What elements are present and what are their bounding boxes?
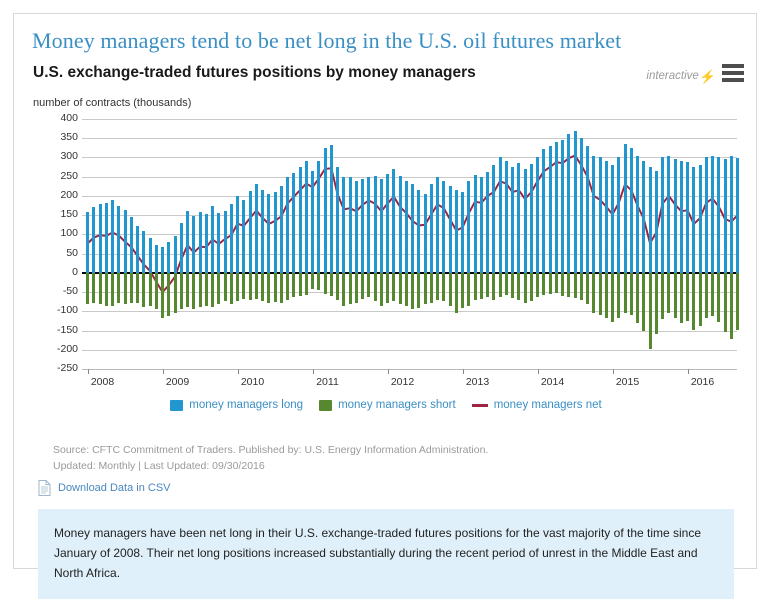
y-axis-tick-label: -200 bbox=[34, 343, 78, 355]
bar-long[interactable] bbox=[299, 167, 302, 273]
legend-item[interactable]: money managers long bbox=[170, 399, 303, 411]
bar-long[interactable] bbox=[611, 165, 614, 273]
bar-long[interactable] bbox=[411, 184, 414, 272]
bar-long[interactable] bbox=[274, 192, 277, 273]
interactive-badge: interactive ⚡ bbox=[646, 64, 744, 88]
lightning-bolt-icon: ⚡ bbox=[700, 70, 716, 83]
bar-long[interactable] bbox=[492, 165, 495, 273]
x-axis-tick-mark bbox=[463, 369, 464, 374]
bar-short[interactable] bbox=[517, 273, 520, 300]
bar-short[interactable] bbox=[124, 273, 127, 305]
bar-short[interactable] bbox=[499, 273, 502, 297]
chart-title: U.S. exchange-traded futures positions b… bbox=[33, 64, 476, 82]
bar-long[interactable] bbox=[549, 146, 552, 273]
bar-long[interactable] bbox=[592, 156, 595, 273]
bar-short[interactable] bbox=[86, 273, 89, 305]
bar-short[interactable] bbox=[417, 273, 420, 308]
bar-long[interactable] bbox=[561, 140, 564, 273]
bar-short[interactable] bbox=[255, 273, 258, 299]
bar-long[interactable] bbox=[292, 173, 295, 273]
bar-long[interactable] bbox=[442, 181, 445, 273]
bar-short[interactable] bbox=[661, 273, 664, 319]
bar-long[interactable] bbox=[355, 181, 358, 273]
bar-long[interactable] bbox=[655, 171, 658, 273]
bar-long[interactable] bbox=[174, 236, 177, 273]
bar-short[interactable] bbox=[505, 273, 508, 295]
bar-short[interactable] bbox=[392, 273, 395, 301]
bar-short[interactable] bbox=[149, 273, 152, 306]
bar-short[interactable] bbox=[292, 273, 295, 297]
bar-short[interactable] bbox=[617, 273, 620, 318]
bar-short[interactable] bbox=[180, 273, 183, 310]
bar-short[interactable] bbox=[405, 273, 408, 306]
bar-short[interactable] bbox=[655, 273, 658, 335]
bar-long[interactable] bbox=[255, 184, 258, 272]
bar-short[interactable] bbox=[142, 273, 145, 307]
bar-long[interactable] bbox=[86, 212, 89, 273]
bar-short[interactable] bbox=[424, 273, 427, 304]
bar-long[interactable] bbox=[336, 167, 339, 273]
x-axis-tick-mark bbox=[163, 369, 164, 374]
bar-long[interactable] bbox=[536, 157, 539, 272]
legend-label: money managers net bbox=[494, 399, 602, 411]
bar-short[interactable] bbox=[167, 273, 170, 316]
bar-short[interactable] bbox=[592, 273, 595, 313]
legend-swatch bbox=[472, 404, 488, 407]
bar-short[interactable] bbox=[192, 273, 195, 310]
bar-long[interactable] bbox=[161, 247, 164, 273]
bar-long[interactable] bbox=[567, 134, 570, 272]
bar-long[interactable] bbox=[242, 200, 245, 273]
download-csv-link[interactable]: Download Data in CSV bbox=[58, 482, 171, 494]
bar-short[interactable] bbox=[605, 273, 608, 318]
bar-long[interactable] bbox=[461, 192, 464, 273]
bar-short[interactable] bbox=[280, 273, 283, 303]
bar-short[interactable] bbox=[511, 273, 514, 298]
bar-short[interactable] bbox=[611, 273, 614, 322]
bar-short[interactable] bbox=[299, 273, 302, 296]
x-axis-tick-mark bbox=[613, 369, 614, 374]
chart-card: Money managers tend to be net long in th… bbox=[13, 13, 757, 569]
bar-long[interactable] bbox=[424, 194, 427, 273]
bar-long[interactable] bbox=[367, 177, 370, 273]
bar-long[interactable] bbox=[142, 231, 145, 273]
x-axis-tick-label: 2012 bbox=[391, 376, 414, 388]
interactive-label: interactive bbox=[646, 70, 698, 82]
bar-long[interactable] bbox=[249, 191, 252, 273]
bar-long[interactable] bbox=[430, 184, 433, 272]
bar-long[interactable] bbox=[261, 190, 264, 273]
legend-item[interactable]: money managers net bbox=[472, 399, 602, 411]
bar-short[interactable] bbox=[342, 273, 345, 306]
bar-long[interactable] bbox=[417, 190, 420, 273]
bar-long[interactable] bbox=[542, 149, 545, 273]
document-icon bbox=[38, 480, 51, 496]
bar-long[interactable] bbox=[349, 177, 352, 272]
bar-short[interactable] bbox=[117, 273, 120, 303]
plot-canvas bbox=[82, 119, 737, 369]
bar-long[interactable] bbox=[630, 148, 633, 273]
bar-long[interactable] bbox=[517, 163, 520, 273]
bar-short[interactable] bbox=[230, 273, 233, 304]
bar-long[interactable] bbox=[211, 206, 214, 273]
bar-short[interactable] bbox=[205, 273, 208, 306]
bar-short[interactable] bbox=[630, 273, 633, 315]
bar-long[interactable] bbox=[467, 181, 470, 273]
bar-long[interactable] bbox=[405, 181, 408, 273]
bar-short[interactable] bbox=[674, 273, 677, 318]
bar-long[interactable] bbox=[117, 206, 120, 273]
legend-label: money managers long bbox=[189, 399, 303, 411]
bar-short[interactable] bbox=[305, 273, 308, 295]
bar-long[interactable] bbox=[99, 204, 102, 273]
bar-long[interactable] bbox=[111, 200, 114, 273]
y-axis-tick-label: -250 bbox=[34, 362, 78, 374]
x-axis-tick-mark bbox=[538, 369, 539, 374]
bar-short[interactable] bbox=[555, 273, 558, 293]
bar-short[interactable] bbox=[249, 273, 252, 300]
legend-item[interactable]: money managers short bbox=[319, 399, 456, 411]
legend-swatch bbox=[319, 400, 332, 411]
bar-short[interactable] bbox=[624, 273, 627, 313]
bar-long[interactable] bbox=[574, 131, 577, 273]
bar-long[interactable] bbox=[224, 211, 227, 273]
bar-long[interactable] bbox=[280, 186, 283, 273]
bar-short[interactable] bbox=[386, 273, 389, 303]
bar-long[interactable] bbox=[130, 217, 133, 273]
x-axis-tick-mark bbox=[238, 369, 239, 374]
bar-short[interactable] bbox=[374, 273, 377, 301]
bar-short[interactable] bbox=[642, 273, 645, 331]
bar-long[interactable] bbox=[267, 194, 270, 273]
bar-short[interactable] bbox=[455, 273, 458, 313]
bar-long[interactable] bbox=[155, 245, 158, 273]
bar-short[interactable] bbox=[261, 273, 264, 301]
y-axis-tick-label: -50 bbox=[34, 285, 78, 297]
bar-short[interactable] bbox=[705, 273, 708, 318]
bar-long[interactable] bbox=[361, 179, 364, 273]
bar-short[interactable] bbox=[574, 273, 577, 298]
bar-short[interactable] bbox=[349, 273, 352, 304]
bar-short[interactable] bbox=[155, 273, 158, 310]
legend-label: money managers short bbox=[338, 399, 456, 411]
bar-long[interactable] bbox=[317, 161, 320, 273]
x-axis-tick-label: 2009 bbox=[166, 376, 189, 388]
bar-long[interactable] bbox=[736, 158, 739, 273]
bar-long[interactable] bbox=[555, 142, 558, 273]
bar-short[interactable] bbox=[717, 273, 720, 322]
bar-short[interactable] bbox=[92, 273, 95, 303]
bar-long[interactable] bbox=[599, 157, 602, 272]
bar-short[interactable] bbox=[436, 273, 439, 300]
bar-short[interactable] bbox=[267, 273, 270, 303]
bar-long[interactable] bbox=[730, 156, 733, 273]
bar-long[interactable] bbox=[386, 174, 389, 273]
bar-short[interactable] bbox=[317, 273, 320, 290]
bar-short[interactable] bbox=[442, 273, 445, 301]
bar-short[interactable] bbox=[549, 273, 552, 294]
y-axis-tick-label: -150 bbox=[34, 324, 78, 336]
bar-short[interactable] bbox=[649, 273, 652, 349]
bar-long[interactable] bbox=[686, 162, 689, 273]
bar-long[interactable] bbox=[199, 212, 202, 273]
bar-short[interactable] bbox=[130, 273, 133, 303]
x-axis-tick-mark bbox=[388, 369, 389, 374]
bar-long[interactable] bbox=[717, 157, 720, 272]
bar-long[interactable] bbox=[217, 213, 220, 273]
bar-long[interactable] bbox=[680, 161, 683, 273]
bar-long[interactable] bbox=[667, 156, 670, 273]
y-axis-tick-label: 350 bbox=[34, 131, 78, 143]
bar-long[interactable] bbox=[455, 190, 458, 273]
bar-short[interactable] bbox=[355, 273, 358, 303]
bar-long[interactable] bbox=[617, 157, 620, 272]
bar-short[interactable] bbox=[136, 273, 139, 303]
y-axis-title: number of contracts (thousands) bbox=[33, 97, 191, 109]
bar-long[interactable] bbox=[524, 169, 527, 273]
page-title: Money managers tend to be net long in th… bbox=[32, 28, 621, 54]
bar-long[interactable] bbox=[480, 177, 483, 273]
bar-short[interactable] bbox=[667, 273, 670, 313]
bar-long[interactable] bbox=[399, 176, 402, 273]
bar-short[interactable] bbox=[736, 273, 739, 330]
bar-long[interactable] bbox=[167, 242, 170, 273]
bar-long[interactable] bbox=[124, 210, 127, 273]
bar-short[interactable] bbox=[486, 273, 489, 297]
bar-long[interactable] bbox=[474, 175, 477, 273]
bar-long[interactable] bbox=[136, 226, 139, 273]
bar-short[interactable] bbox=[480, 273, 483, 299]
bar-long[interactable] bbox=[724, 159, 727, 272]
bar-short[interactable] bbox=[224, 273, 227, 301]
x-axis-tick-mark bbox=[688, 369, 689, 374]
bar-long[interactable] bbox=[230, 204, 233, 272]
bar-long[interactable] bbox=[692, 167, 695, 273]
bar-short[interactable] bbox=[380, 273, 383, 306]
bar-short[interactable] bbox=[399, 273, 402, 304]
x-axis: 200820092010201120122013201420152016 bbox=[82, 369, 737, 399]
bar-long[interactable] bbox=[674, 159, 677, 273]
bar-short[interactable] bbox=[586, 273, 589, 304]
download-csv-row[interactable]: Download Data in CSV bbox=[38, 480, 171, 496]
bar-long[interactable] bbox=[699, 165, 702, 273]
y-axis-tick-label: 200 bbox=[34, 189, 78, 201]
bar-long[interactable] bbox=[286, 177, 289, 273]
bar-short[interactable] bbox=[174, 273, 177, 313]
x-axis-tick-label: 2010 bbox=[241, 376, 264, 388]
x-axis-tick-mark bbox=[313, 369, 314, 374]
bar-long[interactable] bbox=[636, 156, 639, 273]
bar-long[interactable] bbox=[374, 176, 377, 273]
source-line-1: Source: CFTC Commitment of Traders. Publ… bbox=[53, 442, 488, 458]
bar-long[interactable] bbox=[624, 144, 627, 273]
bar-short[interactable] bbox=[361, 273, 364, 299]
bar-long[interactable] bbox=[530, 164, 533, 272]
bar-short[interactable] bbox=[236, 273, 239, 301]
source-text: Source: CFTC Commitment of Traders. Publ… bbox=[53, 442, 488, 474]
bar-short[interactable] bbox=[686, 273, 689, 321]
bar-long[interactable] bbox=[642, 161, 645, 273]
bar-long[interactable] bbox=[511, 167, 514, 273]
bar-long[interactable] bbox=[499, 157, 502, 272]
x-axis-tick-label: 2014 bbox=[541, 376, 564, 388]
bar-short[interactable] bbox=[217, 273, 220, 304]
bar-short[interactable] bbox=[474, 273, 477, 300]
bar-long[interactable] bbox=[705, 157, 708, 272]
y-axis-tick-label: 300 bbox=[34, 150, 78, 162]
bar-short[interactable] bbox=[467, 273, 470, 306]
bar-short[interactable] bbox=[242, 273, 245, 299]
bar-short[interactable] bbox=[692, 273, 695, 330]
bar-short[interactable] bbox=[530, 273, 533, 301]
legend-swatch bbox=[170, 400, 183, 411]
bar-short[interactable] bbox=[542, 273, 545, 295]
bar-long[interactable] bbox=[324, 148, 327, 273]
bar-long[interactable] bbox=[392, 169, 395, 273]
bar-short[interactable] bbox=[492, 273, 495, 300]
bar-short[interactable] bbox=[567, 273, 570, 297]
bar-short[interactable] bbox=[580, 273, 583, 300]
bar-short[interactable] bbox=[367, 273, 370, 297]
y-axis-tick-label: 250 bbox=[34, 170, 78, 182]
bar-long[interactable] bbox=[305, 161, 308, 273]
bar-short[interactable] bbox=[411, 273, 414, 310]
bar-long[interactable] bbox=[186, 211, 189, 273]
x-axis-tick-label: 2011 bbox=[316, 376, 339, 388]
bar-long[interactable] bbox=[342, 177, 345, 273]
y-axis-tick-label: 100 bbox=[34, 227, 78, 239]
x-axis-tick-label: 2015 bbox=[616, 376, 639, 388]
bar-short[interactable] bbox=[186, 273, 189, 307]
bar-long[interactable] bbox=[486, 172, 489, 273]
bar-short[interactable] bbox=[330, 273, 333, 296]
bar-long[interactable] bbox=[180, 223, 183, 273]
y-axis-tick-label: 50 bbox=[34, 247, 78, 259]
bar-long[interactable] bbox=[436, 177, 439, 272]
y-axis-tick-label: 400 bbox=[34, 112, 78, 124]
x-axis-tick-mark bbox=[88, 369, 89, 374]
bar-long[interactable] bbox=[449, 186, 452, 273]
x-axis-tick-label: 2016 bbox=[691, 376, 714, 388]
bar-short[interactable] bbox=[286, 273, 289, 300]
bar-long[interactable] bbox=[580, 138, 583, 273]
bar-long[interactable] bbox=[661, 157, 664, 272]
bar-long[interactable] bbox=[149, 238, 152, 273]
bar-long[interactable] bbox=[711, 156, 714, 273]
bar-long[interactable] bbox=[330, 145, 333, 273]
bar-short[interactable] bbox=[524, 273, 527, 303]
description-note: Money managers have been net long in the… bbox=[38, 509, 734, 599]
bar-short[interactable] bbox=[336, 273, 339, 300]
bar-short[interactable] bbox=[324, 273, 327, 294]
bar-short[interactable] bbox=[536, 273, 539, 297]
bar-short[interactable] bbox=[449, 273, 452, 306]
bar-short[interactable] bbox=[730, 273, 733, 339]
chart-plot-area: 400350300250200150100500-50-100-150-200-… bbox=[33, 114, 739, 399]
x-axis-tick-label: 2013 bbox=[466, 376, 489, 388]
bar-long[interactable] bbox=[380, 179, 383, 273]
bar-long[interactable] bbox=[311, 171, 314, 273]
bar-long[interactable] bbox=[205, 214, 208, 272]
bar-long[interactable] bbox=[105, 203, 108, 273]
bar-short[interactable] bbox=[461, 273, 464, 308]
bar-short[interactable] bbox=[636, 273, 639, 323]
bar-short[interactable] bbox=[161, 273, 164, 318]
bar-short[interactable] bbox=[99, 273, 102, 305]
bar-long[interactable] bbox=[92, 207, 95, 272]
bar-long[interactable] bbox=[586, 146, 589, 273]
bar-short[interactable] bbox=[311, 273, 314, 289]
chart-legend: money managers longmoney managers shortm… bbox=[14, 399, 758, 411]
bar-short[interactable] bbox=[680, 273, 683, 323]
bar-long[interactable] bbox=[192, 216, 195, 273]
bar-short[interactable] bbox=[211, 273, 214, 307]
source-line-2: Updated: Monthly | Last Updated: 09/30/2… bbox=[53, 458, 488, 474]
bar-short[interactable] bbox=[199, 273, 202, 308]
bar-short[interactable] bbox=[111, 273, 114, 306]
bar-short[interactable] bbox=[105, 273, 108, 306]
bar-short[interactable] bbox=[561, 273, 564, 296]
hamburger-menu-icon[interactable] bbox=[722, 64, 744, 82]
bar-long[interactable] bbox=[605, 161, 608, 273]
y-axis-tick-label: -100 bbox=[34, 304, 78, 316]
bar-long[interactable] bbox=[505, 161, 508, 273]
bar-short[interactable] bbox=[711, 273, 714, 316]
y-axis-tick-label: 150 bbox=[34, 208, 78, 220]
y-axis-ticks: 400350300250200150100500-50-100-150-200-… bbox=[33, 119, 78, 369]
bar-short[interactable] bbox=[430, 273, 433, 303]
bar-long[interactable] bbox=[236, 196, 239, 273]
y-axis-tick-label: 0 bbox=[34, 266, 78, 278]
bar-short[interactable] bbox=[724, 273, 727, 333]
bar-short[interactable] bbox=[699, 273, 702, 326]
x-axis-tick-label: 2008 bbox=[91, 376, 114, 388]
bar-short[interactable] bbox=[599, 273, 602, 315]
bar-short[interactable] bbox=[274, 273, 277, 302]
bar-long[interactable] bbox=[649, 167, 652, 273]
